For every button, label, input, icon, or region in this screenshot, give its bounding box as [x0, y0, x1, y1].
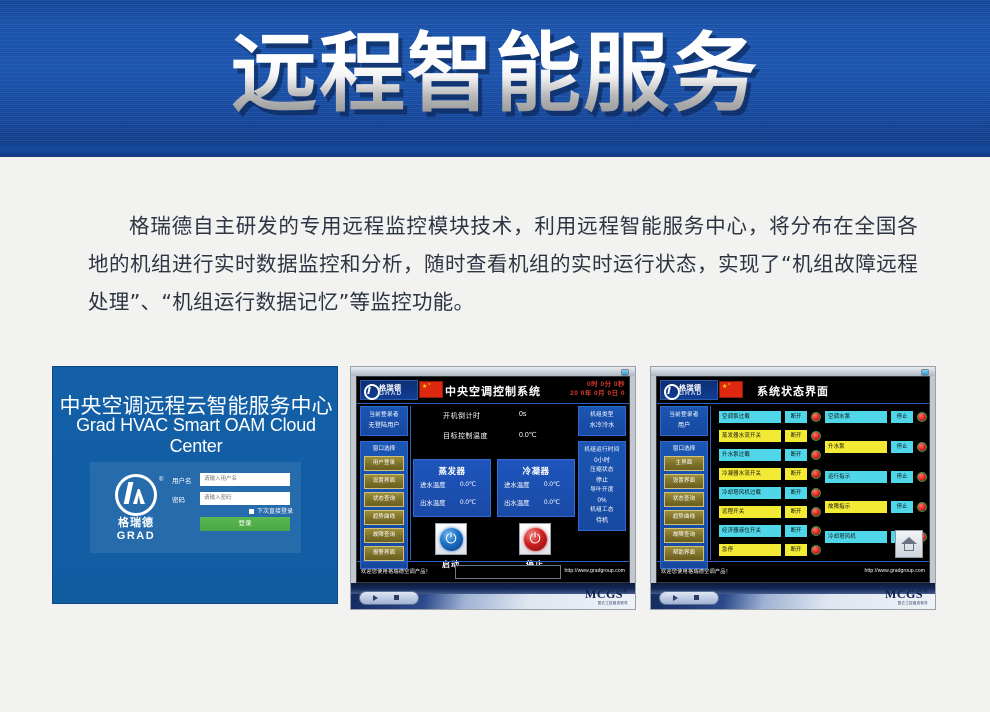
login-submit-button[interactable]: 登录 — [200, 517, 290, 531]
power-off-icon: ⏻ — [524, 528, 547, 551]
evaporator-outlet-value: 0.0℃ — [460, 498, 476, 506]
countdown-value: 0s — [519, 411, 526, 418]
status-name: 冷凝器水流开关 — [719, 468, 781, 480]
banner-bottom-strip — [0, 143, 990, 157]
status-led-icon — [917, 472, 927, 482]
window-select-header: 窗口选择 — [663, 445, 705, 454]
status-name: 远程开关 — [719, 506, 781, 518]
window-select-menu: 窗口选择 用户登录 设置界面 状态查询 趋势曲线 故障查询 报警界面 — [360, 441, 408, 569]
condenser-inlet-label: 进水温度 — [504, 480, 530, 489]
hmi-footer-control: 欢迎您使用格瑞德空调产品！ http://www.gradgroup.com — [357, 561, 629, 582]
mcgs-name: MCGS — [885, 587, 923, 601]
current-user-box: 当前登录者 无登陆用户 — [360, 406, 408, 436]
status-value: 停止 — [891, 411, 913, 423]
window-select-menu: 窗口选择 主界面 设置界面 状态查询 趋势曲线 故障查询 帮助界面 — [660, 441, 708, 569]
status-value: 断开 — [785, 525, 807, 537]
mcgs-registered-mark: ® — [923, 589, 928, 595]
runtime-label: 机组运行时间 — [581, 446, 623, 455]
status-value: 断开 — [785, 544, 807, 556]
status-led-icon — [811, 450, 821, 460]
mcgs-logo-text: MCGS® — [885, 586, 928, 600]
evaporator-title: 蒸发器 — [414, 465, 490, 477]
condenser-outlet-label: 出水温度 — [504, 498, 530, 507]
hmi-screen-control: 格瑞德 GRAD ★ ★ 中央空调控制系统 0时 0分 0秒 20 0年 0月 … — [356, 376, 630, 583]
mcgs-branding: MCGS® 昆仑工控组态软件 — [885, 586, 928, 606]
compressor-value: 停止 — [581, 475, 623, 486]
status-name: 升水泵 — [825, 441, 887, 453]
page-title: 远程智能服务 — [0, 20, 990, 128]
checkbox-box-icon — [249, 509, 254, 514]
footer-welcome-text: 欢迎您使用格瑞德空调产品！ — [661, 568, 731, 575]
screenshot-gallery: 中央空调远程云智能服务中心 Grad HVAC Smart OAM Cloud … — [0, 366, 990, 610]
mcgs-branding: MCGS® 昆仑工控组态软件 — [585, 586, 628, 606]
status-name: 空调水泵 — [825, 411, 887, 423]
footer-message-input[interactable] — [455, 565, 561, 579]
header-banner: 远程智能服务 — [0, 0, 990, 143]
current-user-label: 当前登录者 — [663, 411, 705, 420]
window-indicator-icon — [921, 369, 929, 376]
login-form: 用户名 密码 下次直接登录 登录 — [172, 473, 294, 511]
vane-label: 导叶开度 — [581, 486, 623, 495]
status-name: 故障指示 — [825, 501, 887, 513]
home-button[interactable] — [895, 530, 923, 558]
current-user-box: 当前登录者 用户 — [660, 406, 708, 436]
window-select-header: 窗口选择 — [363, 445, 405, 454]
status-name: 急停 — [719, 544, 781, 556]
condenser-inlet-value: 0.0℃ — [544, 480, 560, 488]
status-name: 运行指示 — [825, 471, 887, 483]
hmi-titlebar — [351, 367, 635, 376]
countdown-label: 开机倒计时 — [443, 411, 481, 421]
status-name: 蒸发器水流开关 — [719, 430, 781, 442]
unit-info-box: 机组运行时间 0小时 压缩状态 停止 导叶开度 0% 机组工态 待机 — [578, 441, 626, 531]
status-value: 停止 — [891, 471, 913, 483]
target-temp-label: 目标控制温度 — [443, 431, 488, 441]
footer-welcome-text: 欢迎您使用格瑞德空调产品！ — [361, 568, 431, 575]
vane-value: 0% — [581, 495, 623, 506]
unit-type-box: 机组类型 水冷冷水 — [578, 406, 626, 436]
password-row: 密码 — [172, 492, 294, 506]
status-value: 断开 — [785, 449, 807, 461]
hmi-titlebar — [651, 367, 935, 376]
evaporator-inlet-row: 进水温度 0.0℃ — [414, 480, 490, 495]
status-value: 断开 — [785, 468, 807, 480]
menu-item-alarm[interactable]: 报警界面 — [364, 546, 404, 561]
menu-item-settings[interactable]: 设置界面 — [364, 474, 404, 489]
mcgs-registered-mark: ® — [623, 589, 628, 595]
status-led-icon — [811, 431, 821, 441]
remember-me-checkbox[interactable]: 下次直接登录 — [249, 506, 293, 515]
brand-name-en: GRAD — [100, 530, 172, 542]
brand-name-cn: 格瑞德 — [100, 517, 172, 530]
hmi-left-sidebar: 当前登录者 用户 窗口选择 主界面 设置界面 状态查询 趋势曲线 故障查询 帮助… — [660, 406, 708, 569]
power-on-icon: ⏻ — [440, 528, 463, 551]
mcgs-name: MCGS — [585, 587, 623, 601]
menu-item-trend[interactable]: 趋势曲线 — [364, 510, 404, 525]
evaporator-outlet-row: 出水温度 0.0℃ — [414, 498, 490, 513]
status-led-icon — [811, 526, 821, 536]
menu-item-fault[interactable]: 故障查询 — [364, 528, 404, 543]
start-button-plate: ⏻ — [435, 523, 467, 555]
runtime-value: 0小时 — [581, 455, 623, 466]
hmi-footer-status: 欢迎您使用格瑞德空调产品！ http://www.gradgroup.com — [657, 561, 929, 582]
menu-item-fault[interactable]: 故障查询 — [664, 528, 704, 543]
menu-item-main[interactable]: 主界面 — [664, 456, 704, 471]
menu-item-status[interactable]: 状态查询 — [664, 492, 704, 507]
status-led-icon — [811, 545, 821, 555]
status-led-icon — [811, 412, 821, 422]
hmi-header-bar: 格瑞德 GRAD ★ ★ 系统状态界面 — [657, 377, 929, 404]
hmi-window-control: 格瑞德 GRAD ★ ★ 中央空调控制系统 0时 0分 0秒 20 0年 0月 … — [350, 366, 636, 610]
footer-url[interactable]: http://www.gradgroup.com — [565, 568, 625, 574]
login-window: 中央空调远程云智能服务中心 Grad HVAC Smart OAM Cloud … — [52, 366, 338, 604]
control-system-screenshot: 格瑞德 GRAD ★ ★ 中央空调控制系统 0时 0分 0秒 20 0年 0月 … — [350, 366, 636, 610]
hmi-screen-status: 格瑞德 GRAD ★ ★ 系统状态界面 当前登录者 用户 窗口选择 — [656, 376, 930, 583]
unit-type-value: 水冷冷水 — [581, 420, 623, 431]
login-screenshot: 中央空调远程云智能服务中心 Grad HVAC Smart OAM Cloud … — [52, 366, 338, 604]
menu-item-help[interactable]: 帮助界面 — [664, 546, 704, 561]
username-label: 用户名 — [172, 475, 196, 485]
status-led-icon — [917, 412, 927, 422]
condenser-inlet-row: 进水温度 0.0℃ — [498, 480, 574, 495]
grad-logo: ® 格瑞德 GRAD — [100, 470, 172, 546]
status-led-icon — [917, 502, 927, 512]
evaporator-inlet-value: 0.0℃ — [460, 480, 476, 488]
target-temp-row: 目标控制温度 0.0℃ — [427, 431, 587, 451]
status-name: 空调泵过载 — [719, 411, 781, 423]
status-led-icon — [811, 488, 821, 498]
hmi-nav-controls[interactable] — [359, 591, 419, 605]
password-input[interactable] — [200, 492, 290, 505]
status-screenshot: 格瑞德 GRAD ★ ★ 系统状态界面 当前登录者 用户 窗口选择 — [650, 366, 936, 610]
status-name: 升水泵过载 — [719, 449, 781, 461]
condenser-outlet-value: 0.0℃ — [544, 498, 560, 506]
hmi-window-status: 格瑞德 GRAD ★ ★ 系统状态界面 当前登录者 用户 窗口选择 — [650, 366, 936, 610]
menu-item-user-login[interactable]: 用户登录 — [364, 456, 404, 471]
username-row: 用户名 — [172, 473, 294, 487]
hmi-clock: 0时 0分 0秒 20 0年 0月 0日 0 — [570, 380, 625, 398]
status-name: 冷却塔风机过载 — [719, 487, 781, 499]
status-value: 断开 — [785, 487, 807, 499]
menu-item-trend[interactable]: 趋势曲线 — [664, 510, 704, 525]
status-name: 冷却塔风机 — [825, 531, 887, 543]
status-led-icon — [811, 507, 821, 517]
menu-item-status[interactable]: 状态查询 — [364, 492, 404, 507]
stop-square-icon — [394, 595, 399, 600]
mcgs-logo-text: MCGS® — [585, 586, 628, 600]
status-value: 断开 — [785, 506, 807, 518]
target-temp-value: 0.0℃ — [519, 431, 537, 439]
hmi-title-status: 系统状态界面 — [657, 383, 929, 399]
hmi-right-sidebar: 机组类型 水冷冷水 机组运行时间 0小时 压缩状态 停止 导叶开度 0% 机组工… — [578, 406, 626, 536]
menu-item-settings[interactable]: 设置界面 — [664, 474, 704, 489]
footer-url[interactable]: http://www.gradgroup.com — [865, 568, 925, 574]
unit-type-label: 机组类型 — [581, 411, 623, 420]
compressor-label: 压缩状态 — [581, 466, 623, 475]
status-name: 经济器液位开关 — [719, 525, 781, 537]
sidebar-divider — [710, 406, 711, 560]
stop-square-icon — [694, 595, 699, 600]
intro-paragraph: 格瑞德自主研发的专用远程监控模块技术，利用远程智能服务中心，将分布在全国各地的机… — [88, 207, 918, 321]
play-arrow-icon — [673, 595, 678, 601]
condenser-title: 冷凝器 — [498, 465, 574, 477]
remember-me-label: 下次直接登录 — [257, 509, 293, 515]
login-title-en: Grad HVAC Smart OAM Cloud Center — [53, 415, 338, 457]
countdown-row: 开机倒计时 0s — [427, 411, 587, 431]
clock-time: 0时 0分 0秒 — [570, 380, 625, 389]
password-label: 密码 — [172, 494, 196, 504]
condenser-box: 冷凝器 进水温度 0.0℃ 出水温度 0.0℃ — [497, 459, 575, 517]
unit-state-label: 机组工态 — [581, 506, 623, 515]
sidebar-divider — [410, 406, 411, 560]
username-input[interactable] — [200, 473, 290, 486]
window-indicator-icon — [621, 369, 629, 376]
status-led-icon — [917, 442, 927, 452]
hmi-header-bar: 格瑞德 GRAD ★ ★ 中央空调控制系统 0时 0分 0秒 20 0年 0月 … — [357, 377, 629, 404]
evaporator-inlet-label: 进水温度 — [420, 480, 446, 489]
status-value: 停止 — [891, 501, 913, 513]
home-icon — [901, 537, 917, 551]
hmi-left-sidebar: 当前登录者 无登陆用户 窗口选择 用户登录 设置界面 状态查询 趋势曲线 故障查… — [360, 406, 408, 569]
grad-emblem-icon: ® — [115, 474, 157, 516]
login-card: ® 格瑞德 GRAD 用户名 密码 下次直接登录 — [90, 462, 301, 553]
current-user-label: 当前登录者 — [363, 411, 405, 420]
status-led-icon — [811, 469, 821, 479]
status-value: 停止 — [891, 441, 913, 453]
condenser-outlet-row: 出水温度 0.0℃ — [498, 498, 574, 513]
stop-button-plate: ⏻ — [519, 523, 551, 555]
play-arrow-icon — [373, 595, 378, 601]
hmi-nav-controls[interactable] — [659, 591, 719, 605]
control-readouts: 开机倒计时 0s 目标控制温度 0.0℃ — [427, 411, 587, 451]
registered-mark: ® — [159, 477, 163, 483]
status-value: 断开 — [785, 411, 807, 423]
unit-state-value: 待机 — [581, 515, 623, 526]
current-user-value: 无登陆用户 — [363, 420, 405, 431]
current-user-value: 用户 — [663, 420, 705, 431]
evaporator-box: 蒸发器 进水温度 0.0℃ 出水温度 0.0℃ — [413, 459, 491, 517]
status-value: 断开 — [785, 430, 807, 442]
evaporator-outlet-label: 出水温度 — [420, 498, 446, 507]
clock-date: 20 0年 0月 0日 0 — [570, 389, 625, 398]
